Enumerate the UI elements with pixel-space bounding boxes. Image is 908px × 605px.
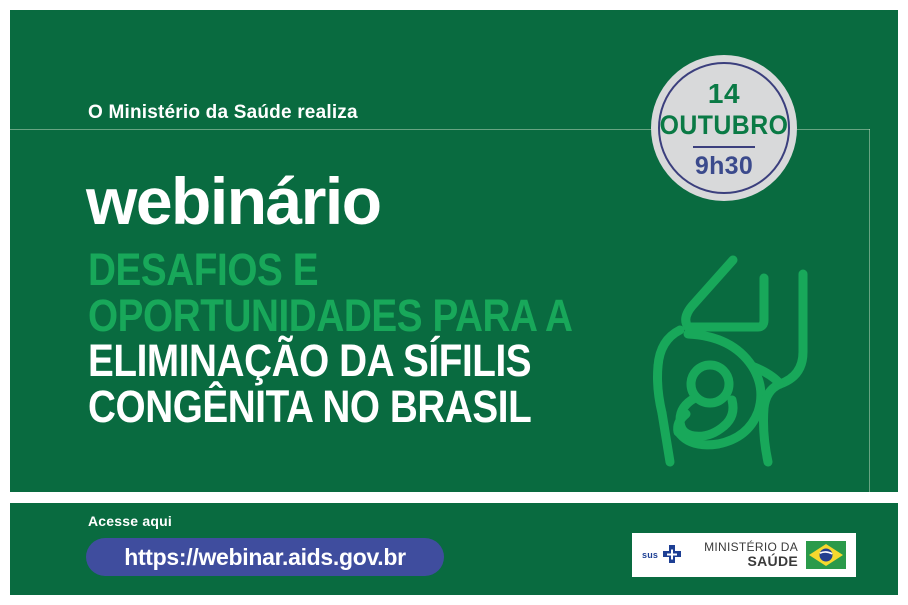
government-logo-lockup: sus MINISTÉRIO DA SAÚDE bbox=[632, 533, 856, 577]
pregnant-woman-fetus-icon bbox=[640, 248, 840, 474]
badge-month: OUTUBRO bbox=[657, 112, 791, 139]
page-title: webinário bbox=[86, 168, 381, 234]
badge-divider bbox=[693, 146, 755, 148]
access-label: Acesse aqui bbox=[88, 513, 172, 529]
headline-line-4: CONGÊNITA NO BRASIL bbox=[88, 385, 572, 429]
brazil-flag-icon bbox=[806, 541, 846, 569]
main-panel: O Ministério da Saúde realiza webinário … bbox=[10, 10, 898, 492]
ministry-line-2: SAÚDE bbox=[684, 554, 798, 569]
ministry-wordmark: MINISTÉRIO DA SAÚDE bbox=[684, 541, 806, 568]
date-badge: 14 OUTUBRO 9h30 bbox=[651, 55, 797, 201]
badge-content: 14 OUTUBRO 9h30 bbox=[651, 78, 797, 179]
medical-cross-icon bbox=[660, 543, 684, 567]
badge-day: 14 bbox=[651, 80, 797, 108]
badge-time: 9h30 bbox=[651, 154, 797, 179]
eyebrow-text: O Ministério da Saúde realiza bbox=[88, 102, 358, 124]
headline-line-1: DESAFIOS E bbox=[88, 248, 572, 292]
webinar-poster: O Ministério da Saúde realiza webinário … bbox=[0, 0, 908, 605]
headline-block: DESAFIOS E OPORTUNIDADES PARA A ELIMINAÇ… bbox=[88, 248, 651, 431]
vertical-rule bbox=[869, 129, 870, 492]
webinar-url-text: https://webinar.aids.gov.br bbox=[124, 544, 406, 571]
headline-line-2: OPORTUNIDADES PARA A bbox=[88, 294, 572, 338]
sus-wordmark: sus bbox=[642, 550, 658, 560]
webinar-url-button[interactable]: https://webinar.aids.gov.br bbox=[86, 538, 444, 576]
headline-line-3: ELIMINAÇÃO DA SÍFILIS bbox=[88, 339, 572, 383]
sus-logo: sus bbox=[642, 543, 684, 567]
